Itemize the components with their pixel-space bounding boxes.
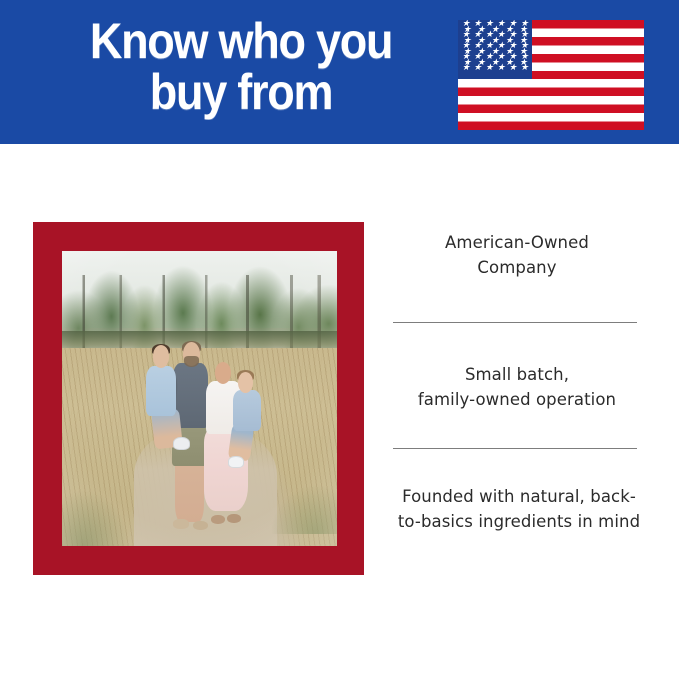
feature-list: American-Owned Company Small batch, fami… — [388, 144, 646, 679]
photo-son-head — [153, 345, 170, 367]
photo-green-patch-right — [266, 446, 338, 535]
united-states-flag-icon — [458, 20, 644, 130]
main-content: American-Owned Company Small batch, fami… — [0, 144, 679, 679]
feature-divider-2 — [393, 448, 637, 449]
feature-item-american-owned: American-Owned Company — [388, 230, 646, 280]
photo-son-shirt — [146, 366, 176, 416]
headline-line-1: Know who you — [57, 16, 426, 67]
page-headline: Know who you buy from — [57, 16, 426, 118]
feature-2-line-2: to-basics ingredients in mind — [385, 509, 653, 534]
header-banner: Know who you buy from — [0, 0, 679, 144]
photo-mother-sandal-left — [211, 515, 225, 524]
feature-2-line-1: Founded with natural, back- — [385, 484, 653, 509]
feature-item-small-batch: Small batch, family-owned operation — [388, 362, 646, 412]
photo-green-patch-left — [62, 446, 134, 546]
flag-canton — [458, 20, 532, 79]
family-photo-card — [33, 222, 364, 575]
photo-daughter-top — [233, 390, 262, 431]
headline-line-2: buy from — [57, 67, 426, 118]
photo-mother-sandal-right — [227, 514, 241, 523]
feature-0-line-1: American-Owned — [388, 230, 646, 255]
photo-father-sandal-left — [173, 519, 188, 528]
photo-daughter-shoe — [228, 456, 244, 468]
photo-daughter-head — [238, 372, 253, 393]
feature-divider-1 — [393, 322, 637, 323]
photo-mother-head — [215, 362, 232, 384]
family-photo-image — [62, 251, 337, 546]
photo-son-shoe — [173, 437, 191, 450]
photo-father-sandal-right — [193, 521, 208, 530]
feature-item-natural-ingredients: Founded with natural, back- to-basics in… — [385, 484, 653, 534]
feature-0-line-2: Company — [388, 255, 646, 280]
feature-1-line-2: family-owned operation — [388, 387, 646, 412]
feature-1-line-1: Small batch, — [388, 362, 646, 387]
